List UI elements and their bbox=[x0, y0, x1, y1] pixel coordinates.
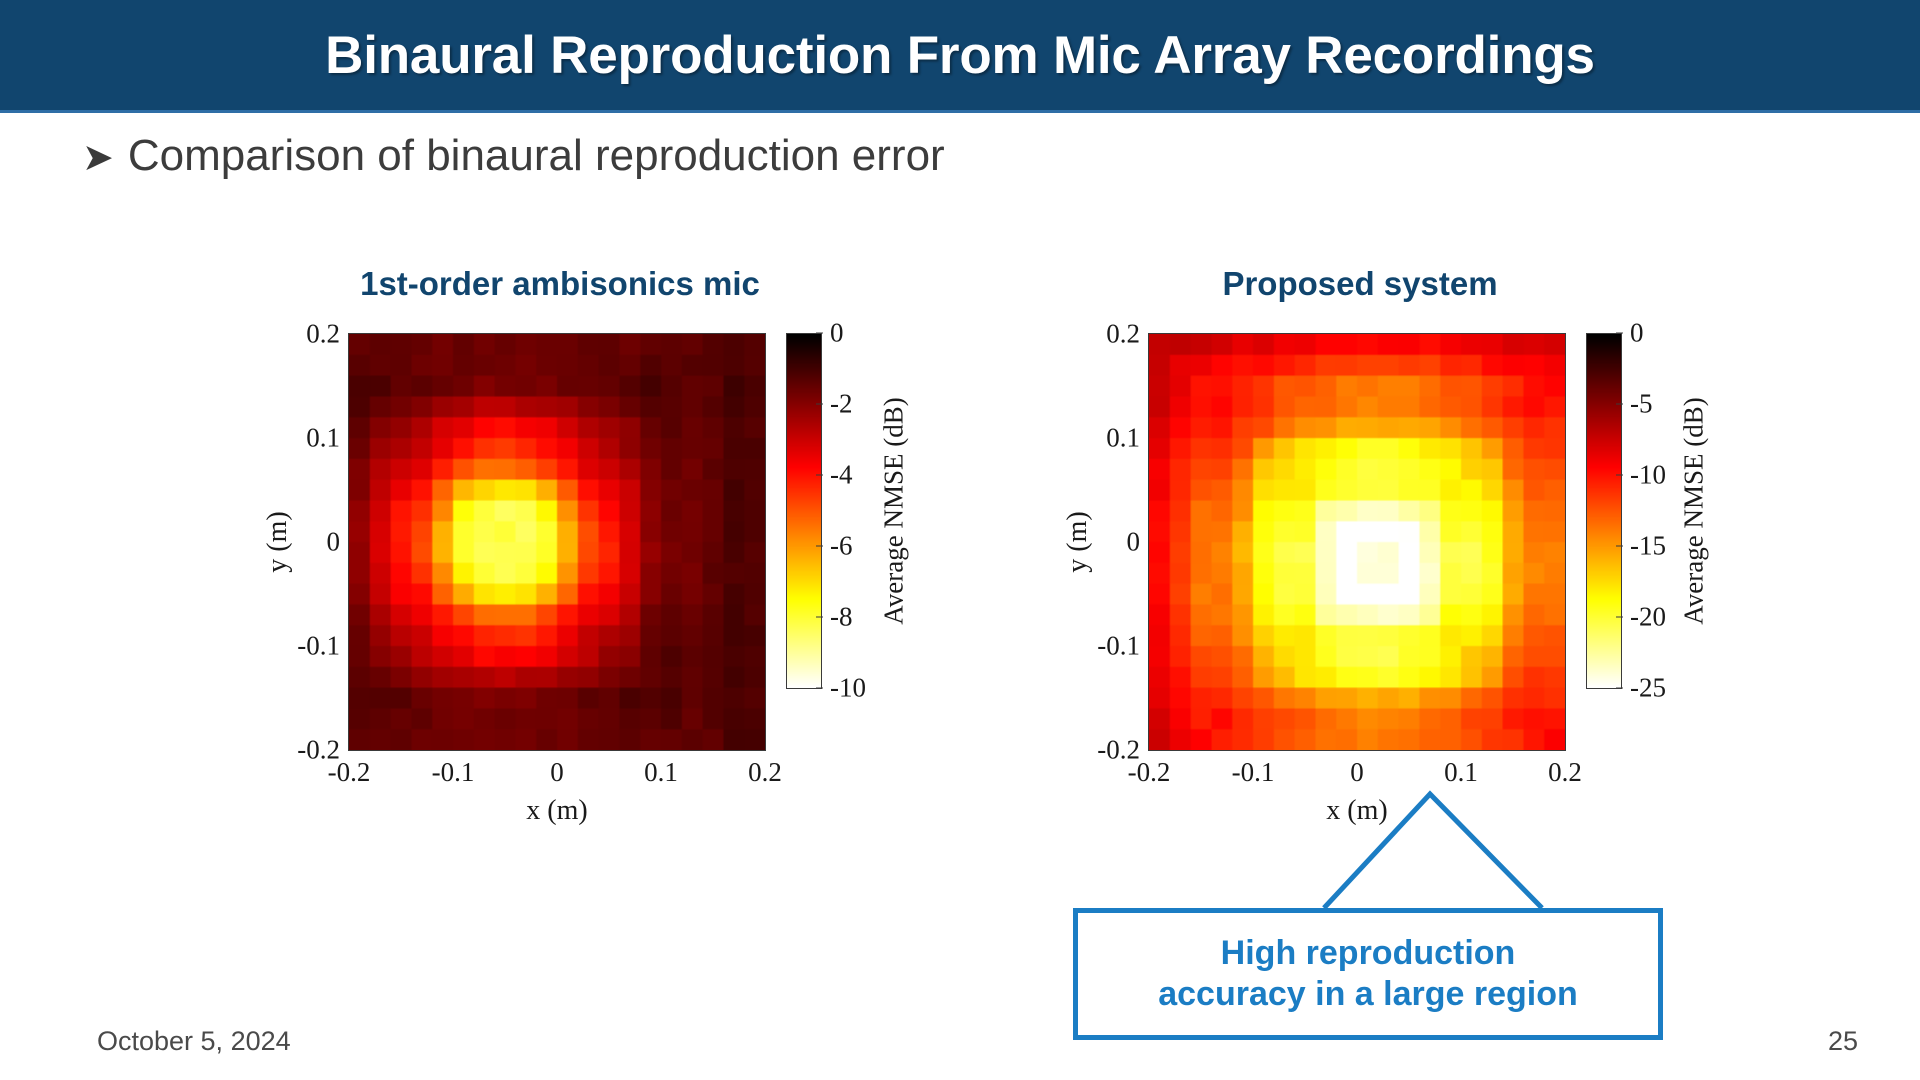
callout-line-1: High reproduction bbox=[1221, 933, 1516, 974]
colorbar-tick-label: -8 bbox=[830, 602, 853, 633]
x-tick-label: -0.1 bbox=[1208, 757, 1298, 788]
callout-pointer-icon bbox=[1318, 788, 1548, 912]
x-tick-label: 0 bbox=[1312, 757, 1402, 788]
colorbar-canvas-left bbox=[787, 334, 821, 688]
y-axis-label: y (m) bbox=[1062, 462, 1094, 622]
colorbar-tick-label: -20 bbox=[1630, 602, 1666, 633]
colorbar-tick-label: -10 bbox=[830, 673, 866, 704]
colorbar-tick-label: -5 bbox=[1630, 389, 1653, 420]
x-tick-label: -0.2 bbox=[1104, 757, 1194, 788]
colorbar-tick-label: 0 bbox=[1630, 318, 1644, 349]
y-tick-label: -0.1 bbox=[260, 631, 340, 662]
y-tick-label: 0.1 bbox=[1060, 423, 1140, 454]
colorbar-tick-label: -6 bbox=[830, 531, 853, 562]
colorbar-tick-label: -2 bbox=[830, 389, 853, 420]
panel-left: 1st-order ambisonics mic 0.2 0.1 0 -0.1 … bbox=[240, 265, 880, 745]
x-tick-label: -0.1 bbox=[408, 757, 498, 788]
colorbar-axis-label: Average NMSE (dB) bbox=[1679, 397, 1710, 624]
colorbar-gradient-right bbox=[1586, 333, 1622, 689]
colorbar-left: 0 -2 -4 -6 -8 -10 Average NMSE (dB) bbox=[786, 333, 822, 689]
panel-right: Proposed system 0.2 0.1 0 -0.1 -0.2 -0.2… bbox=[1040, 265, 1680, 745]
footer-date: October 5, 2024 bbox=[97, 1026, 291, 1057]
x-tick-label: 0.1 bbox=[616, 757, 706, 788]
y-axis-label: y (m) bbox=[262, 462, 294, 622]
heatmap-axes-right bbox=[1148, 333, 1566, 751]
colorbar-tick-label: -15 bbox=[1630, 531, 1666, 562]
colorbar-tick-label: -25 bbox=[1630, 673, 1666, 704]
heatmap-canvas-right bbox=[1149, 334, 1565, 750]
bullet-row: ➤ Comparison of binaural reproduction er… bbox=[82, 133, 945, 179]
bullet-text: Comparison of binaural reproduction erro… bbox=[128, 133, 945, 179]
callout-annotation: High reproduction accuracy in a large re… bbox=[1073, 908, 1663, 1040]
y-tick-label: 0.2 bbox=[260, 319, 340, 350]
x-tick-label: -0.2 bbox=[304, 757, 394, 788]
panel-right-title: Proposed system bbox=[1040, 265, 1680, 303]
callout-line-2: accuracy in a large region bbox=[1158, 974, 1578, 1015]
x-tick-label: 0.2 bbox=[1520, 757, 1610, 788]
x-tick-label: 0 bbox=[512, 757, 602, 788]
x-tick-label: 0.1 bbox=[1416, 757, 1506, 788]
heatmap-axes-left bbox=[348, 333, 766, 751]
x-tick-label: 0.2 bbox=[720, 757, 810, 788]
colorbar-tick-label: -10 bbox=[1630, 460, 1666, 491]
callout-box: High reproduction accuracy in a large re… bbox=[1073, 908, 1663, 1040]
heatmap-canvas-left bbox=[349, 334, 765, 750]
footer-page-number: 25 bbox=[1828, 1026, 1858, 1057]
panel-left-title: 1st-order ambisonics mic bbox=[240, 265, 880, 303]
y-tick-label: -0.1 bbox=[1060, 631, 1140, 662]
title-underline bbox=[0, 110, 1920, 113]
colorbar-axis-label: Average NMSE (dB) bbox=[879, 397, 910, 624]
bullet-arrow-icon: ➤ bbox=[82, 139, 114, 177]
heatmap-figure-left: 0.2 0.1 0 -0.1 -0.2 -0.2 -0.1 0 0.1 0.2 … bbox=[240, 325, 880, 745]
colorbar-tick-label: 0 bbox=[830, 318, 844, 349]
y-tick-label: 0.2 bbox=[1060, 319, 1140, 350]
heatmap-figure-right: 0.2 0.1 0 -0.1 -0.2 -0.2 -0.1 0 0.1 0.2 … bbox=[1040, 325, 1680, 745]
colorbar-right: 0 -5 -10 -15 -20 -25 Average NMSE (dB) bbox=[1586, 333, 1622, 689]
x-axis-label: x (m) bbox=[348, 795, 766, 827]
colorbar-gradient-left bbox=[786, 333, 822, 689]
colorbar-canvas-right bbox=[1587, 334, 1621, 688]
colorbar-tick-label: -4 bbox=[830, 460, 853, 491]
y-tick-label: 0.1 bbox=[260, 423, 340, 454]
page-title: Binaural Reproduction From Mic Array Rec… bbox=[325, 25, 1595, 86]
slide-title-bar: Binaural Reproduction From Mic Array Rec… bbox=[0, 0, 1920, 110]
